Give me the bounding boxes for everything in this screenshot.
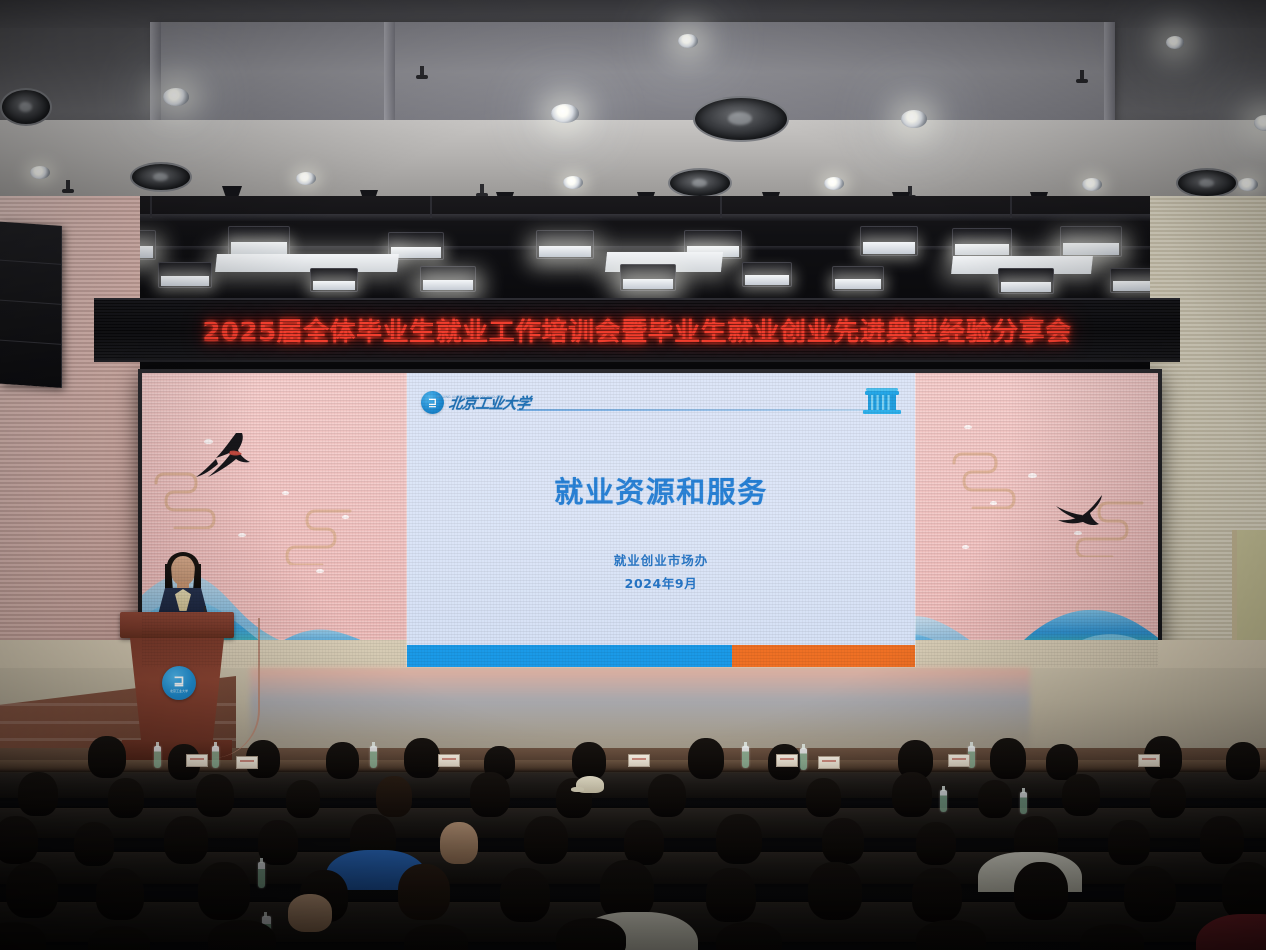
audience-head	[990, 738, 1026, 779]
truss-hanger	[150, 196, 152, 218]
audience-head	[196, 774, 234, 817]
audience-head	[1124, 866, 1176, 922]
audience-head	[326, 742, 359, 779]
audience-head	[556, 918, 626, 950]
stage-light-fixture	[1060, 226, 1122, 257]
logo-name-en: BEIJING UNIVERSITY OF TECHNOLOGY	[437, 395, 504, 399]
auspicious-cloud-icon	[948, 435, 1030, 509]
audience-head	[688, 738, 724, 779]
lighting-truss-band	[0, 196, 1266, 304]
audience-head	[470, 772, 510, 817]
audience-head	[1062, 774, 1100, 816]
swallow-bird-icon	[1052, 493, 1116, 535]
ceiling-downlight	[901, 110, 927, 128]
truss-hanger	[1010, 196, 1012, 218]
ceiling-air-vent	[0, 88, 52, 126]
audience-head	[376, 776, 412, 817]
podium-emblem: ⊒ 北京工业大学	[162, 666, 196, 700]
audience-head	[108, 778, 144, 818]
banner-text: 2025届全体毕业生就业工作培训会暨毕业生就业创业先进典型经验分享会	[94, 312, 1180, 349]
logo-badge-glyph: ⊒	[428, 397, 437, 408]
audience-head	[208, 920, 276, 950]
presentation-slide: ⊒ 北京工业大学 BEIJING UNIVERSITY OF TECHNOLOG…	[407, 373, 915, 667]
ceiling-sprinkler	[66, 180, 70, 191]
audience-head	[912, 868, 962, 922]
audience-head	[1108, 820, 1150, 865]
line-array-speaker	[0, 222, 62, 388]
stage-light-fixture	[420, 266, 476, 292]
audience-head	[892, 772, 932, 817]
audience-head	[1200, 816, 1244, 864]
swallow-bird-icon	[196, 431, 260, 483]
audience-head	[822, 818, 864, 864]
audience-head	[600, 860, 654, 920]
audience-head	[916, 920, 986, 950]
audience-head	[440, 822, 478, 864]
footer-bar-blue	[407, 645, 747, 667]
water-bottle	[154, 746, 161, 768]
name-card	[776, 754, 798, 767]
stage-light-fixture	[620, 264, 676, 291]
ceiling-air-vent	[693, 96, 789, 142]
stage-light-fixture	[742, 262, 792, 287]
audience-head	[500, 868, 550, 922]
ceiling-sprinkler	[1080, 70, 1084, 81]
audience-head	[706, 868, 756, 922]
ceiling-air-vent	[668, 168, 732, 198]
name-card	[186, 754, 208, 767]
audience-head	[978, 780, 1012, 818]
ceiling-downlight	[30, 166, 50, 179]
audience-head	[96, 868, 144, 920]
slide-date: 2024年9月	[407, 573, 915, 592]
ceiling-downlight	[824, 177, 844, 190]
audience-head	[404, 738, 440, 778]
stage-light-panel	[215, 254, 399, 272]
ceiling-air-vent	[1176, 168, 1238, 198]
stage-light-fixture	[536, 230, 594, 259]
audience-head	[286, 780, 320, 818]
name-card	[818, 756, 840, 769]
name-card	[628, 754, 650, 767]
stage-light-fixture	[860, 226, 918, 256]
water-bottle	[940, 790, 947, 812]
petal-decoration	[964, 425, 972, 429]
ceiling-downlight	[163, 88, 189, 106]
audience-head	[806, 778, 841, 817]
audience-head	[808, 862, 862, 920]
ceiling-air-vent	[130, 162, 192, 192]
pavilion-icon	[863, 387, 901, 417]
audience-head	[1150, 778, 1186, 818]
water-bottle	[370, 746, 377, 768]
audience-head	[716, 814, 762, 864]
slide-footer-bar	[407, 645, 915, 667]
led-banner: 2025届全体毕业生就业工作培训会暨毕业生就业创业先进典型经验分享会	[94, 298, 1180, 362]
name-card	[948, 754, 970, 767]
audience-head	[1226, 742, 1260, 780]
stage-light-fixture	[228, 226, 290, 256]
name-card	[438, 754, 460, 767]
audience-head	[916, 822, 956, 865]
stage-light-fixture	[158, 262, 212, 288]
ceiling-downlight	[1166, 36, 1184, 49]
footer-bar-orange	[732, 645, 915, 667]
audience-head	[404, 924, 468, 950]
slide-title: 就业资源和服务	[407, 469, 915, 511]
stage-light-fixture	[310, 268, 358, 292]
ceiling-downlight	[551, 104, 579, 123]
audience-head	[398, 864, 450, 920]
audience-head	[198, 862, 250, 920]
audience-head	[288, 894, 332, 932]
ceiling-downlight	[678, 34, 698, 48]
ceiling-sprinkler	[420, 66, 424, 77]
ceiling	[0, 0, 1266, 215]
stage-light-fixture	[832, 266, 884, 291]
baseball-cap	[576, 776, 604, 793]
water-bottle	[1020, 792, 1027, 814]
audience-head	[572, 742, 606, 780]
name-card	[1138, 754, 1160, 767]
slide-subtitle: 就业创业市场办	[407, 550, 915, 569]
water-bottle	[800, 748, 807, 770]
truss-hanger	[720, 196, 722, 218]
ceiling-downlight	[1082, 178, 1102, 191]
audience-area	[0, 716, 1266, 950]
water-bottle	[742, 746, 749, 768]
ceiling-downlight	[296, 172, 316, 185]
presenter-head	[171, 556, 195, 585]
led-screen-bezel: ⊒ 北京工业大学 BEIJING UNIVERSITY OF TECHNOLOG…	[138, 369, 1162, 671]
audience-head	[0, 816, 38, 864]
truss-bar	[100, 214, 1260, 221]
stage-light-fixture	[998, 268, 1054, 294]
podium-emblem-caption: 北京工业大学	[170, 689, 188, 693]
led-screen: ⊒ 北京工业大学 BEIJING UNIVERSITY OF TECHNOLOG…	[142, 373, 1158, 667]
auditorium-scene: 2025届全体毕业生就业工作培训会暨毕业生就业创业先进典型经验分享会	[0, 0, 1266, 950]
audience-head	[1222, 862, 1266, 920]
audience-head	[524, 816, 568, 864]
audience-head	[648, 774, 686, 817]
audience-head	[624, 820, 664, 865]
slide-divider-line	[517, 409, 897, 411]
water-bottle	[258, 862, 265, 888]
audience-head	[164, 816, 208, 864]
audience-head	[88, 736, 126, 778]
podium-emblem-glyph: ⊒	[174, 674, 185, 687]
audience-head	[18, 772, 58, 816]
audience-head	[74, 822, 114, 866]
ceiling-sprinkler	[480, 184, 484, 195]
audience-head	[1080, 924, 1144, 950]
audience-head	[1014, 862, 1068, 920]
petal-decoration	[282, 491, 289, 495]
audience-head	[6, 862, 58, 918]
audience-head	[258, 820, 298, 865]
audience-head	[88, 926, 150, 950]
truss-hanger	[430, 196, 432, 218]
ceiling-downlight	[1238, 178, 1258, 191]
name-card	[236, 756, 258, 769]
water-bottle	[212, 746, 219, 768]
audience-head	[716, 922, 782, 950]
ceiling-downlight	[563, 176, 583, 189]
ceiling-lower-slab	[0, 120, 1266, 198]
stage-light-fixture	[952, 228, 1012, 257]
